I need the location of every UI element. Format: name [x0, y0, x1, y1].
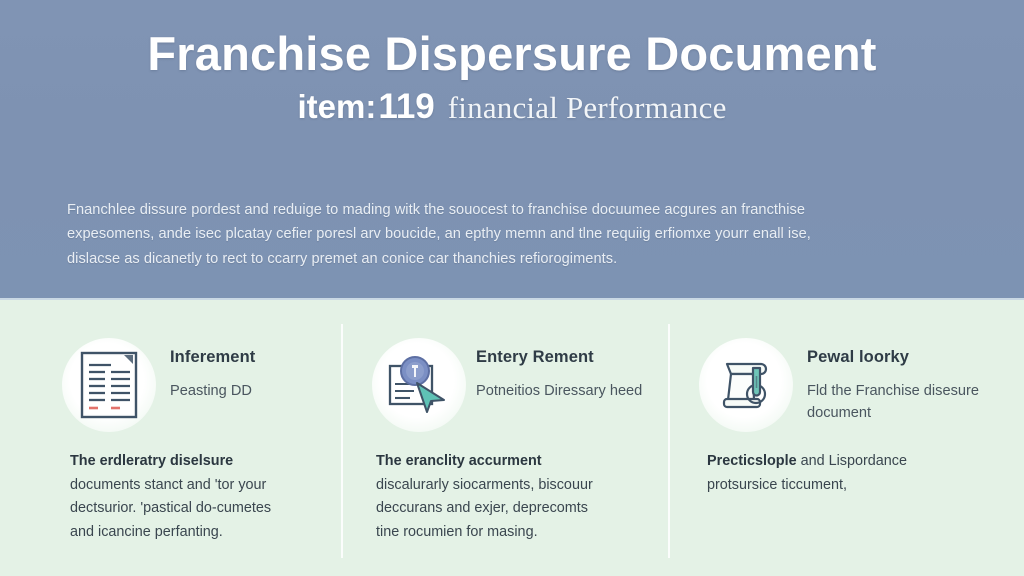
card-header-text: Inferement Peasting DD	[170, 346, 340, 402]
card-body-line-2: dectsurior. 'pastical do-cumetes	[70, 497, 332, 521]
document-magnifier-cursor-icon	[372, 338, 466, 432]
card-body-line-1: discalurarly siocarments, biscouur	[376, 474, 642, 498]
header-description-line-3: dislacse as dicanetly to rect to ccarry …	[67, 247, 960, 271]
item-topic: financial Performance	[435, 90, 727, 125]
cards-section: Inferement Peasting DD The erdleratry di…	[0, 302, 1024, 576]
card-subtitle: Potneitios Diressary heed	[476, 380, 646, 402]
card-subtitle: Fld the Franchise disesure document	[807, 380, 983, 424]
page-subtitle: item:119financial Performance	[0, 85, 1024, 136]
card-body-line-1: and Lispordance	[801, 453, 907, 469]
card-body-line-1: documents stanct and 'tor your	[70, 474, 332, 498]
header-description: Fnanchlee dissure pordest and reduige to…	[67, 198, 960, 271]
card-body-line-2: protsursice ticcument,	[707, 474, 975, 498]
card-body-line-3: and icancine perfanting.	[70, 521, 332, 545]
card-subtitle: Peasting DD	[170, 380, 340, 402]
card-body-line-2: deccurans and exjer, deprecomts	[376, 497, 642, 521]
item-label: item:	[297, 88, 376, 125]
card-body-line-3: tine rocumien for masing.	[376, 521, 642, 545]
card-body: Precticslople and Lispordance protsursic…	[707, 450, 975, 497]
card-body-lead: The erdleratry diselsure	[70, 450, 332, 474]
card-title: Entery Rement	[476, 346, 646, 368]
card-header-text: Entery Rement Potneitios Diressary heed	[476, 346, 646, 402]
card-body: The erdleratry diselsure documents stanc…	[70, 450, 332, 544]
card-inferement[interactable]: Inferement Peasting DD The erdleratry di…	[62, 302, 332, 576]
card-header: Pewal loorky Fld the Franchise disesure …	[695, 338, 973, 434]
card-body-lead: The eranclity accurment	[376, 450, 642, 474]
card-title: Pewal loorky	[807, 346, 983, 368]
item-number: 119	[376, 87, 434, 126]
card-divider-1	[341, 324, 343, 558]
document-lines-icon	[62, 338, 156, 432]
card-body-lead: Precticslople	[707, 453, 797, 469]
card-header: Entery Rement Potneitios Diressary heed	[368, 338, 640, 434]
header-banner: Franchise Dispersure Document item:119fi…	[0, 0, 1024, 300]
card-header-text: Pewal loorky Fld the Franchise disesure …	[807, 346, 983, 424]
card-entery-rement[interactable]: Entery Rement Potneitios Diressary heed …	[368, 302, 640, 576]
card-divider-2	[668, 324, 670, 558]
scroll-seal-icon	[699, 338, 793, 432]
header-description-line-1: Fnanchlee dissure pordest and reduige to…	[67, 198, 960, 222]
card-pewal-loorky[interactable]: Pewal loorky Fld the Franchise disesure …	[695, 302, 973, 576]
infographic-page: Franchise Dispersure Document item:119fi…	[0, 0, 1024, 576]
page-title: Franchise Dispersure Document	[0, 24, 1024, 84]
card-header: Inferement Peasting DD	[62, 338, 332, 434]
header-description-line-2: expesomens, ande isec plcatay cefier por…	[67, 222, 960, 246]
card-body-lead-row: Precticslople and Lispordance	[707, 450, 975, 474]
card-title: Inferement	[170, 346, 340, 368]
card-body: The eranclity accurment discalurarly sio…	[376, 450, 642, 544]
